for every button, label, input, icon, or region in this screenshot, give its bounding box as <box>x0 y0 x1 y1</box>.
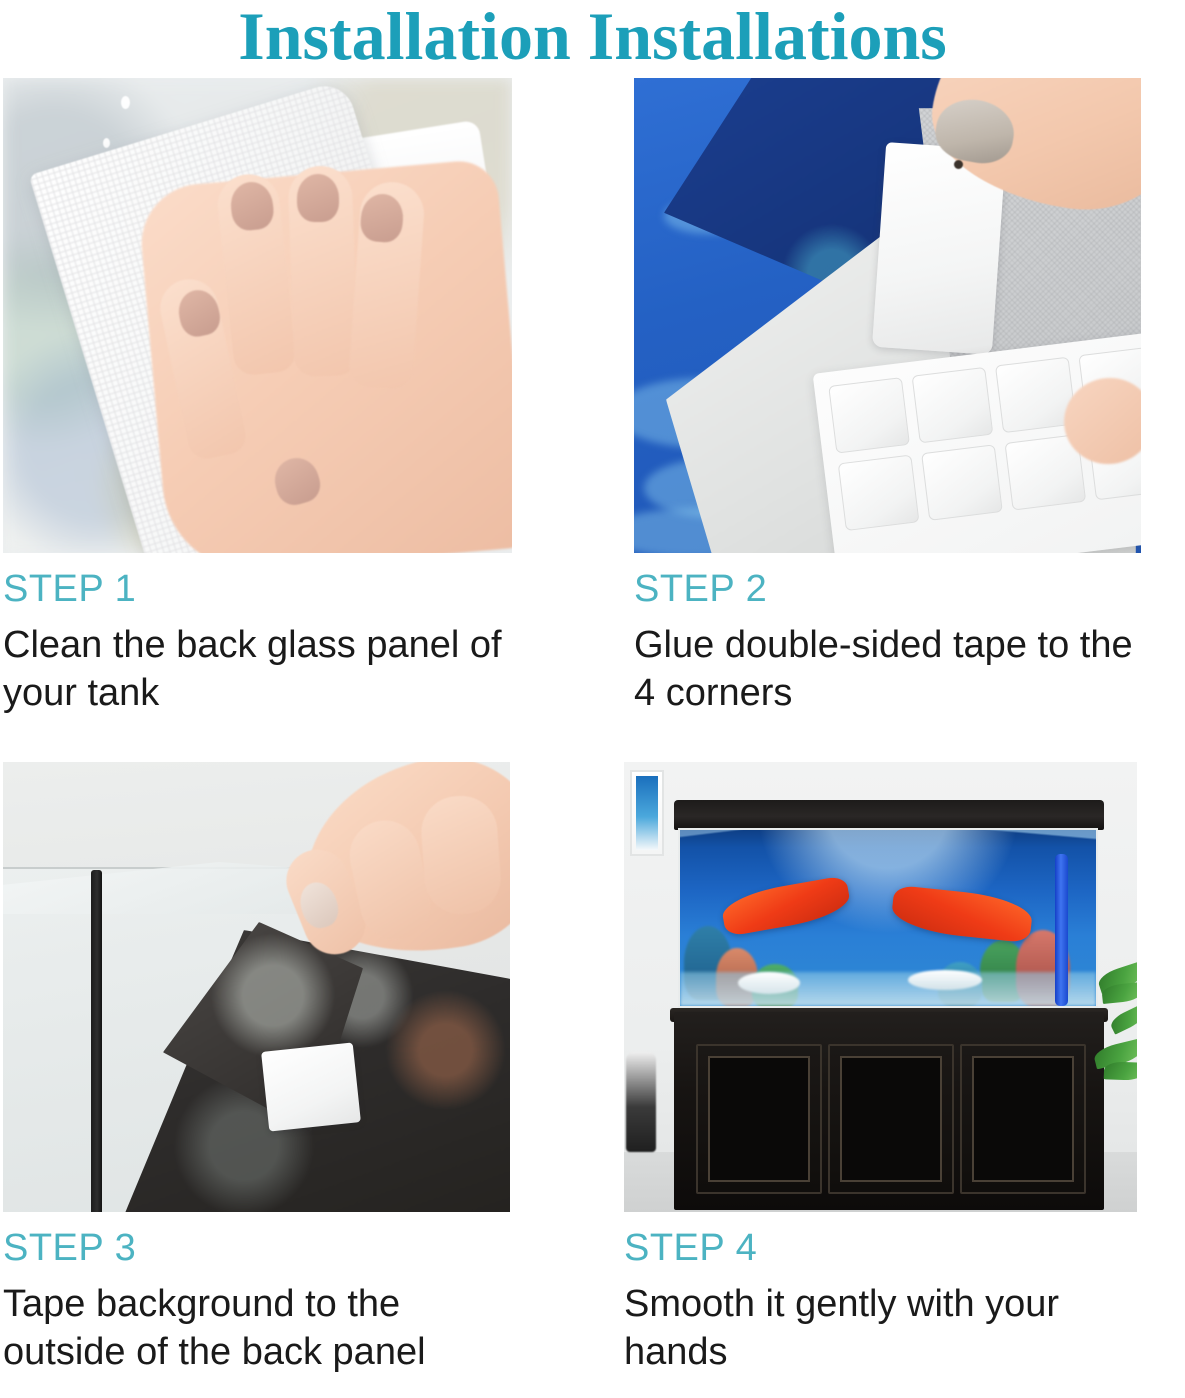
step-2-photo <box>634 78 1141 553</box>
cabinet-door-panel <box>708 1056 810 1182</box>
cabinet-door[interactable] <box>696 1044 822 1194</box>
step-3-caption: STEP 3 Tape background to the outside of… <box>3 1212 510 1376</box>
step-2-description: Glue double-sided tape to the 4 corners <box>634 611 1141 717</box>
tape-pad <box>912 367 994 444</box>
step-3-description: Tape background to the outside of the ba… <box>3 1270 510 1376</box>
blue-heater-tube <box>1055 854 1068 1006</box>
cabinet-door-panel <box>972 1056 1074 1182</box>
step-card-2: STEP 2 Glue double-sided tape to the 4 c… <box>634 78 1141 717</box>
tape-pad <box>828 377 910 454</box>
tank-black-corner-trim <box>91 870 102 1212</box>
step-4-caption: STEP 4 Smooth it gently with your hands <box>624 1212 1137 1376</box>
step-1-photo <box>3 78 512 553</box>
finger <box>419 793 503 916</box>
page-title-bar: Installation Installations <box>0 0 1185 78</box>
white-rock <box>738 972 800 994</box>
floor-vase <box>626 1052 656 1152</box>
cabinet-door-panel <box>840 1056 942 1182</box>
double-sided-tape-square <box>261 1042 361 1131</box>
step-3-photo <box>3 762 510 1212</box>
step-3-label: STEP 3 <box>3 1226 510 1270</box>
step-card-4: STEP 4 Smooth it gently with your hands <box>624 762 1137 1376</box>
wall-picture-frame <box>630 770 664 856</box>
step-card-3: STEP 3 Tape background to the outside of… <box>3 762 510 1376</box>
step-4-label: STEP 4 <box>624 1226 1137 1270</box>
step-card-1: STEP 1 Clean the back glass panel of you… <box>3 78 512 717</box>
fingernail <box>297 174 339 222</box>
step-1-label: STEP 1 <box>3 567 512 611</box>
aquarium-tank <box>678 828 1098 1008</box>
white-rock <box>908 970 982 990</box>
step-4-photo <box>624 762 1137 1212</box>
aquarium-hood-light <box>674 800 1104 830</box>
cabinet-door[interactable] <box>828 1044 954 1194</box>
step-1-caption: STEP 1 Clean the back glass panel of you… <box>3 553 512 717</box>
page-title: Installation Installations <box>238 0 947 72</box>
water-droplet <box>121 96 130 109</box>
step-2-label: STEP 2 <box>634 567 1141 611</box>
house-plant-leaf <box>1104 1061 1137 1080</box>
installation-guide-page: Installation Installations <box>0 0 1185 1398</box>
tape-pad <box>838 455 920 532</box>
tape-pad <box>921 444 1003 521</box>
nail-detail-dot <box>954 160 963 169</box>
cabinet-door[interactable] <box>960 1044 1086 1194</box>
water-droplet <box>103 138 110 148</box>
step-1-description: Clean the back glass panel of your tank <box>3 611 512 717</box>
wall-picture-image <box>636 776 658 850</box>
step-4-description: Smooth it gently with your hands <box>624 1270 1137 1376</box>
step-2-caption: STEP 2 Glue double-sided tape to the 4 c… <box>634 553 1141 717</box>
